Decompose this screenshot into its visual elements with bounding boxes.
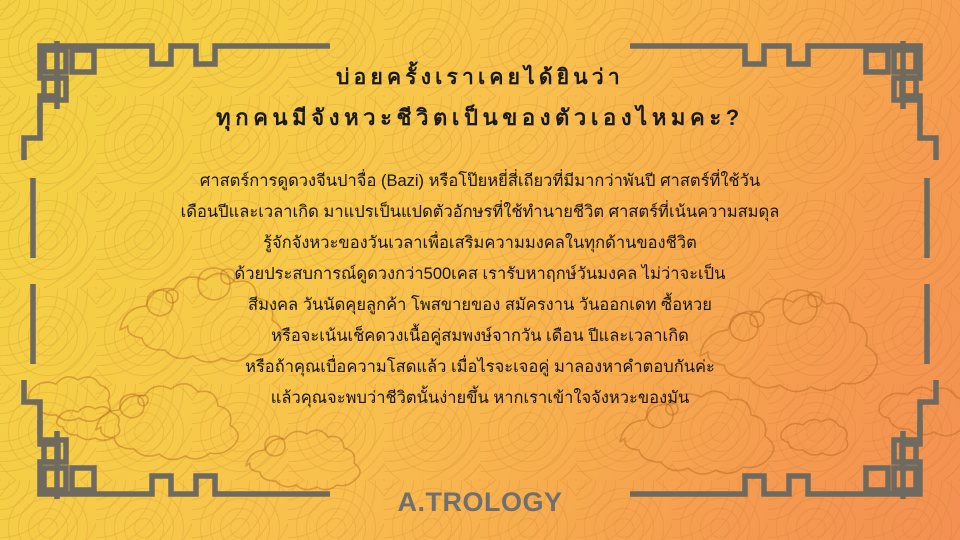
brand-logo: A.TROLOGY <box>0 487 960 518</box>
poster-canvas: บ่อยครั้งเราเคยได้ยินว่า ทุกคนมีจังหวะชี… <box>0 0 960 540</box>
body-line-4: ด้วยประสบการณ์ดูดวงกว่า500เคส เรารับหาฤก… <box>120 259 840 290</box>
headline: บ่อยครั้งเราเคยได้ยินว่า ทุกคนมีจังหวะชี… <box>216 58 744 138</box>
body-line-2: เดือนปีและเวลาเกิด มาแปรเป็นแปดตัวอักษรท… <box>120 197 840 228</box>
body-line-1: ศาสตร์การดูดวงจีนปาจื่อ (Bazi) หรือโป๊ยห… <box>120 166 840 197</box>
poster-content: บ่อยครั้งเราเคยได้ยินว่า ทุกคนมีจังหวะชี… <box>0 0 960 540</box>
body-line-6: หรือจะเน้นเช็คดวงเนื้อคู่สมพงษ์จากวัน เด… <box>120 321 840 352</box>
body-line-5: สีมงคล วันนัดคุยลูกค้า โพสขายของ สมัครงา… <box>120 290 840 321</box>
body-copy: ศาสตร์การดูดวงจีนปาจื่อ (Bazi) หรือโป๊ยห… <box>120 166 840 414</box>
body-line-7: หรือถ้าคุณเบื่อความโสดแล้ว เมื่อไรจะเจอค… <box>120 352 840 383</box>
body-line-8: แล้วคุณจะพบว่าชีวิตนั้นง่ายขึ้น หากเราเข… <box>120 383 840 414</box>
headline-line-1: บ่อยครั้งเราเคยได้ยินว่า <box>216 58 744 98</box>
body-line-3: รู้จักจังหวะของวันเวลาเพื่อเสริมความมงคล… <box>120 228 840 259</box>
headline-line-2: ทุกคนมีจังหวะชีวิตเป็นของตัวเองไหมคะ? <box>216 98 744 138</box>
